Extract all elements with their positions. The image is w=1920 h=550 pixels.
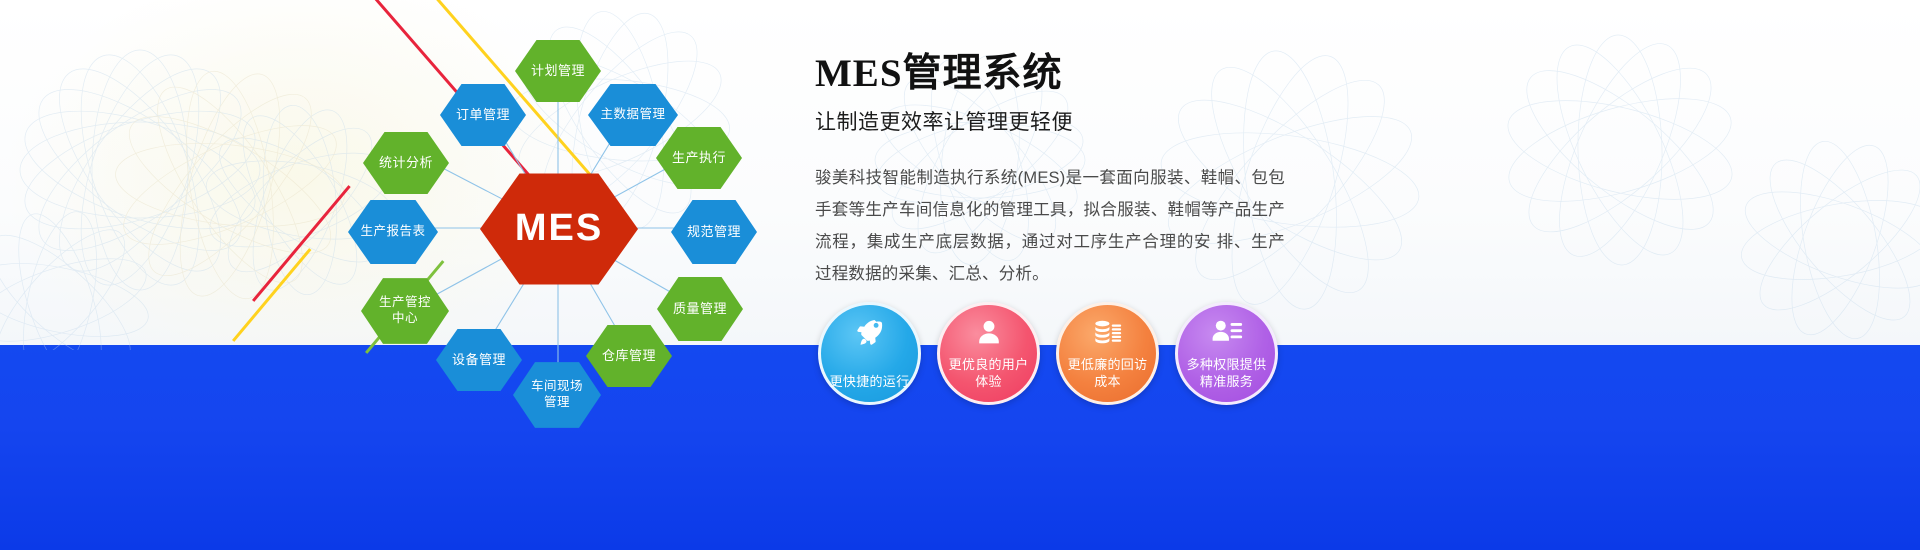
hex-label: 生产执行	[668, 150, 730, 166]
hex-center-label: MES	[511, 205, 607, 253]
hex-label: 订单管理	[452, 107, 514, 123]
hex-label: 生产报告表	[356, 224, 429, 240]
feature-better-user-experience[interactable]: 更优良的用户体验	[937, 302, 1040, 405]
page-title: MES管理系统	[815, 52, 1285, 96]
hex-label: 主数据管理	[596, 107, 669, 123]
feature-faster-operation[interactable]: 更快捷的运行	[818, 302, 921, 405]
hex-label: 规范管理	[683, 224, 745, 240]
user-list-icon	[1178, 317, 1275, 345]
page-description: 骏美科技智能制造执行系统(MES)是一套面向服装、鞋帽、包包手套等生产车间信息化…	[815, 162, 1285, 291]
rocket-icon	[821, 317, 918, 347]
feature-label: 更优良的用户体验	[943, 356, 1035, 391]
hex-label: 仓库管理	[598, 348, 660, 364]
feature-label: 多种权限提供精准服务	[1181, 356, 1273, 391]
hex-label: 统计分析	[375, 155, 437, 171]
feature-label: 更快捷的运行	[824, 373, 916, 391]
hero-copy-block: MES管理系统 让制造更效率让管理更轻便 骏美科技智能制造执行系统(MES)是一…	[815, 52, 1285, 290]
feature-lower-revisit-cost[interactable]: 更低廉的回访成本	[1056, 302, 1159, 405]
mes-hexagon-diagram: MES 计划管理 订单管理 主数据管理 统计分析 生产执行 生产报告表 规范管理…	[330, 20, 790, 440]
hex-label: 车间现场管理	[527, 379, 587, 410]
feature-label: 更低廉的回访成本	[1062, 356, 1154, 391]
hex-label: 计划管理	[527, 63, 589, 79]
feature-circle-list: 更快捷的运行 更优良的用户体验	[818, 302, 1278, 405]
page-subtitle: 让制造更效率让管理更轻便	[815, 106, 1285, 136]
hex-label: 生产管控中心	[375, 295, 435, 326]
hex-label: 质量管理	[669, 301, 731, 317]
hex-label: 设备管理	[448, 352, 510, 368]
user-icon	[940, 317, 1037, 347]
money-icon	[1059, 317, 1156, 347]
mes-hero-banner: MES 计划管理 订单管理 主数据管理 统计分析 生产执行 生产报告表 规范管理…	[0, 0, 1920, 550]
feature-multi-permission-service[interactable]: 多种权限提供精准服务	[1175, 302, 1278, 405]
